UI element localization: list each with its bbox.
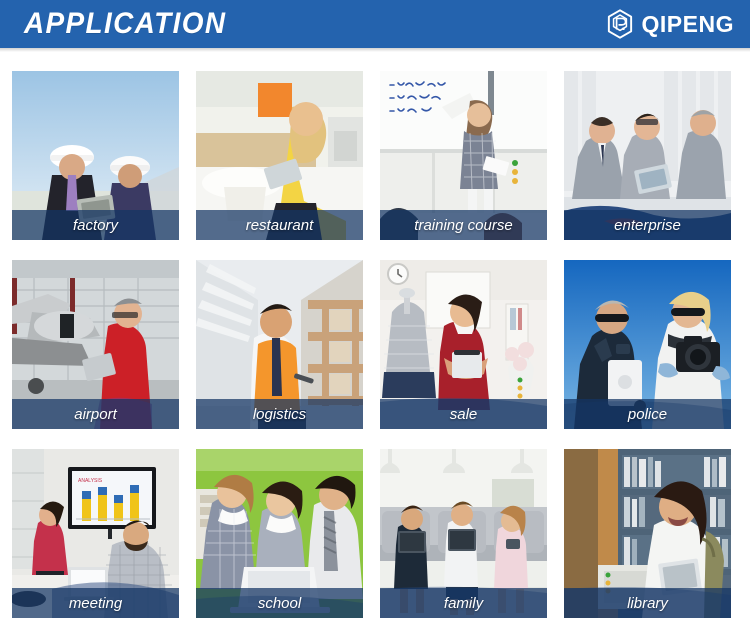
gallery-card-family[interactable]: family <box>380 449 547 618</box>
brand-name: QIPENG <box>642 11 734 38</box>
card-label-bar: family <box>380 588 547 618</box>
gallery-card-restaurant[interactable]: restaurant <box>196 71 363 240</box>
gallery-card-sale[interactable]: sale <box>380 260 547 429</box>
card-label-bar: training course <box>380 210 547 240</box>
gallery-card-factory[interactable]: factory <box>12 71 179 240</box>
card-label: family <box>444 595 483 612</box>
gallery-card-enterprise[interactable]: enterprise <box>564 71 731 240</box>
gallery-card-training-course[interactable]: training course <box>380 71 547 240</box>
gallery-card-school[interactable]: school <box>196 449 363 618</box>
card-label-bar: school <box>196 588 363 618</box>
card-label-bar: meeting <box>12 588 179 618</box>
card-label: training course <box>414 217 512 234</box>
gallery-card-airport[interactable]: airport <box>12 260 179 429</box>
card-label: sale <box>450 406 478 423</box>
brand-logo: QIPENG <box>606 9 734 39</box>
card-label: meeting <box>69 595 122 612</box>
gallery-card-meeting[interactable]: ANALYSIS <box>12 449 179 618</box>
application-gallery-grid: factory restaurant <box>0 48 750 636</box>
card-label: enterprise <box>614 217 681 234</box>
card-label: logistics <box>253 406 306 423</box>
page-header: APPLICATION QIPENG <box>0 0 750 48</box>
gallery-card-logistics[interactable]: logistics <box>196 260 363 429</box>
page-title: APPLICATION <box>24 7 226 41</box>
card-label-bar: restaurant <box>196 210 363 240</box>
card-label-bar: factory <box>12 210 179 240</box>
card-label: factory <box>73 217 118 234</box>
card-label: police <box>628 406 667 423</box>
card-label-bar: sale <box>380 399 547 429</box>
card-label: restaurant <box>246 217 314 234</box>
hexagon-cube-logo-icon <box>606 9 634 39</box>
card-label-bar: enterprise <box>564 210 731 240</box>
card-label: airport <box>74 406 117 423</box>
card-label-bar: logistics <box>196 399 363 429</box>
card-label-bar: police <box>564 399 731 429</box>
card-label-bar: airport <box>12 399 179 429</box>
card-label: school <box>258 595 301 612</box>
svg-text:ANALYSIS: ANALYSIS <box>78 478 103 484</box>
card-label: library <box>627 595 668 612</box>
gallery-card-library[interactable]: library <box>564 449 731 618</box>
gallery-card-police[interactable]: police <box>564 260 731 429</box>
card-label-bar: library <box>564 588 731 618</box>
